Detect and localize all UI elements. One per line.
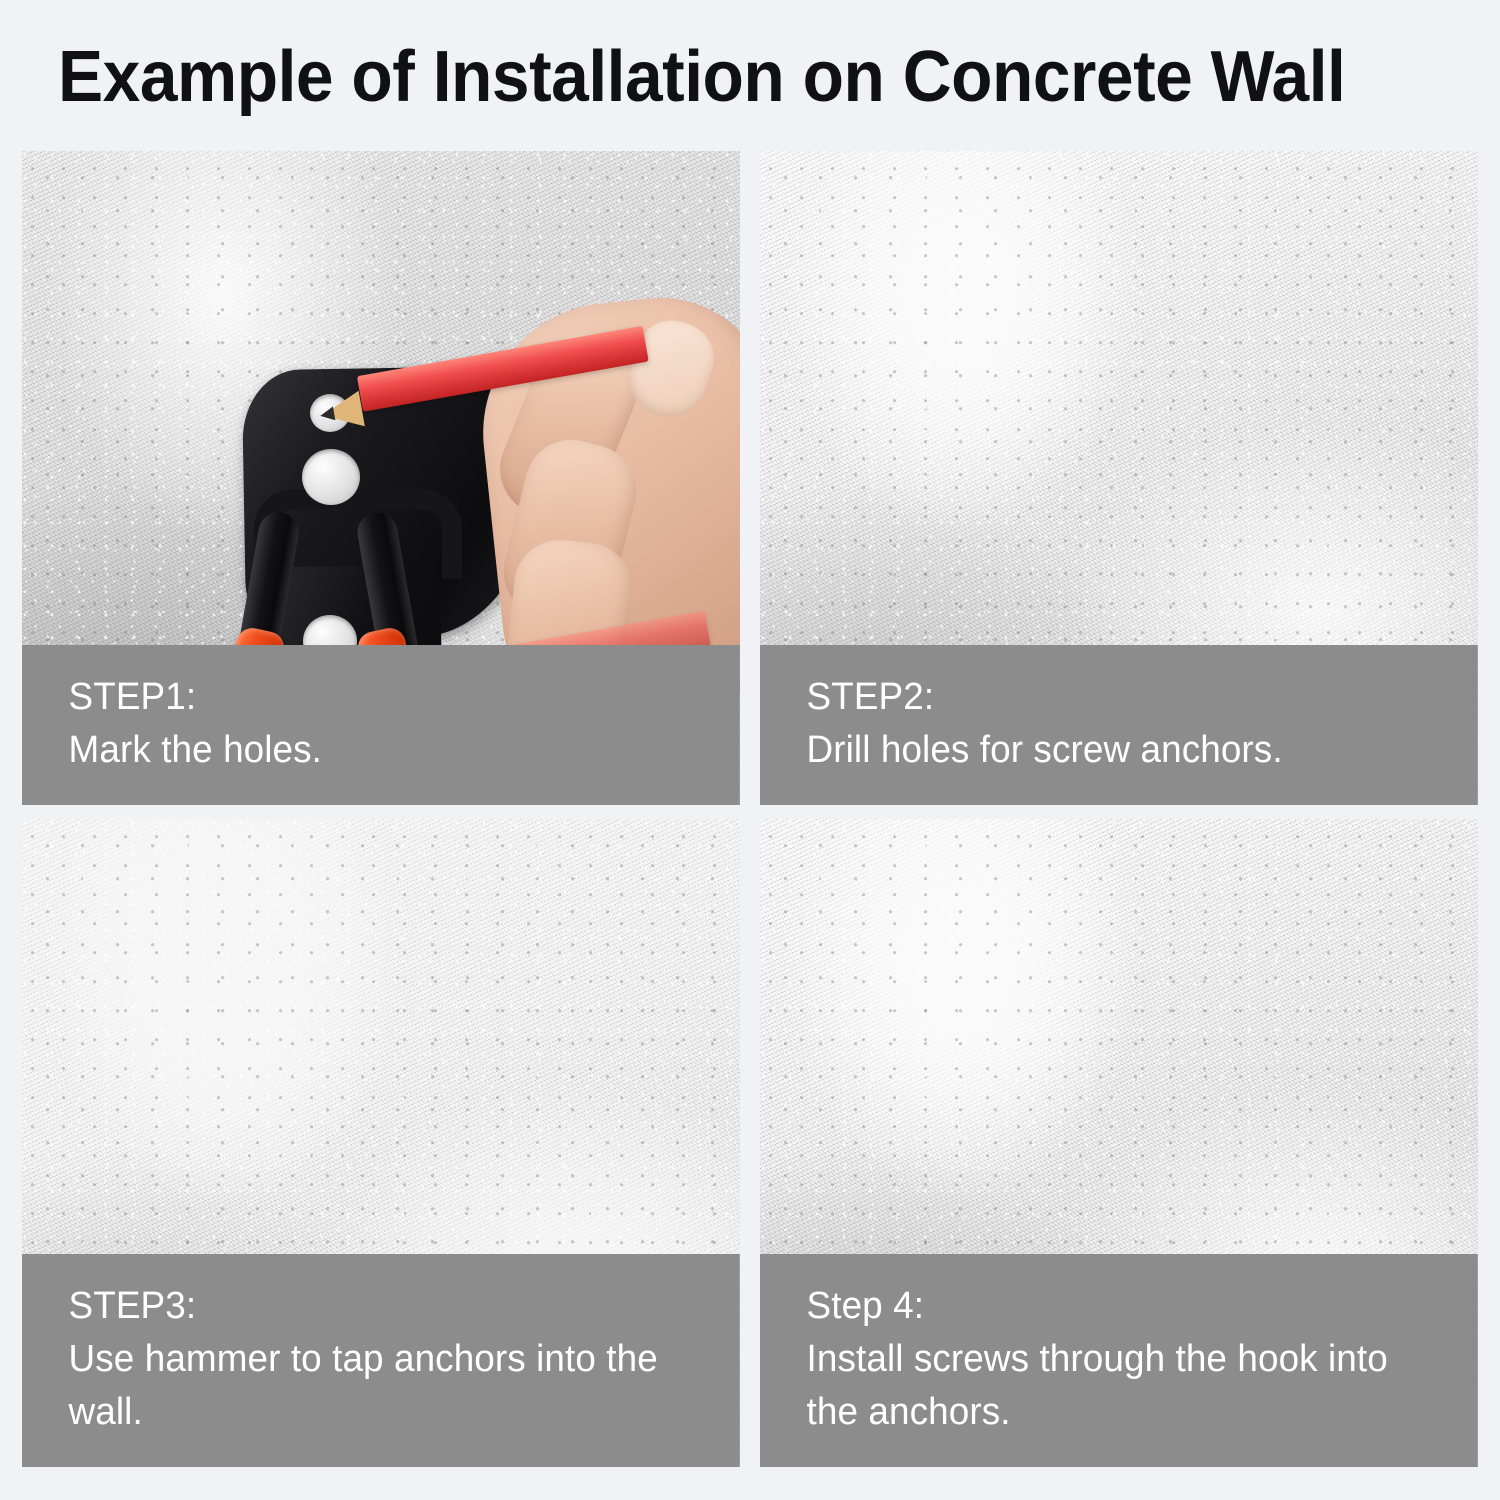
- step-3-label: STEP3:: [69, 1280, 693, 1333]
- step-1-instruction: Mark the holes.: [69, 724, 693, 777]
- page-title: Example of Installation on Concrete Wall: [58, 27, 1374, 127]
- step-panel-1: STEP1: Mark the holes.: [22, 151, 740, 805]
- step-1-caption: STEP1: Mark the holes.: [22, 645, 739, 805]
- step-2-instruction: Drill holes for screw anchors.: [807, 724, 1431, 777]
- step-2-label: STEP2:: [807, 671, 1431, 724]
- step-4-label: Step 4:: [807, 1280, 1431, 1333]
- step-3-instruction: Use hammer to tap anchors into the wall.: [69, 1333, 693, 1439]
- step-panel-2: 13 11 9 STEP2: Drill holes for screw anc…: [760, 151, 1478, 805]
- step-1-label: STEP1:: [69, 671, 693, 724]
- installation-steps-grid: STEP1: Mark the holes. 13 11 9: [22, 151, 1478, 1467]
- step-panel-3: STEP3: Use hammer to tap anchors into th…: [22, 819, 740, 1467]
- step-3-caption: STEP3: Use hammer to tap anchors into th…: [22, 1254, 739, 1467]
- step-2-caption: STEP2: Drill holes for screw anchors.: [760, 645, 1477, 805]
- marking-pencil-tip: [319, 391, 365, 433]
- mounting-hole-2: [302, 449, 360, 505]
- step-panel-4: Step 4: Install screws through the hook …: [760, 819, 1478, 1467]
- step-4-instruction: Install screws through the hook into the…: [807, 1333, 1431, 1439]
- step-4-caption: Step 4: Install screws through the hook …: [760, 1254, 1477, 1467]
